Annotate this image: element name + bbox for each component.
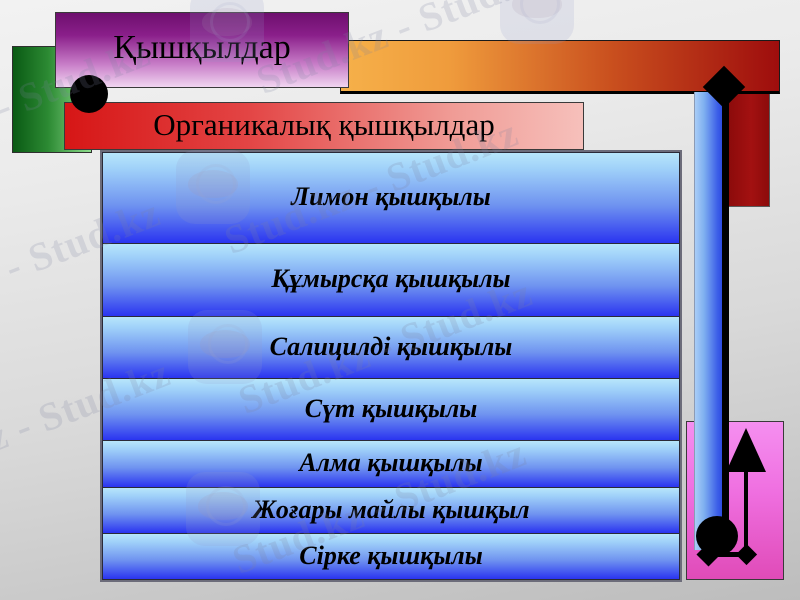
acid-list: Лимон қышқылы Құмырсқа қышқылы Салицилді… — [100, 150, 682, 582]
list-item[interactable]: Сірке қышқылы — [102, 534, 680, 580]
list-item[interactable]: Жоғары майлы қышқыл — [102, 488, 680, 534]
up-arrow-shaft — [744, 438, 748, 556]
watermark-logo — [500, 0, 574, 44]
list-item-label: Лимон қышқылы — [291, 184, 491, 212]
slide-title: Қышқылдар — [113, 31, 290, 69]
list-item-label: Сүт қышқылы — [305, 396, 478, 424]
slide-subtitle: Органикалық қышқылдар — [153, 109, 494, 143]
dark-red-vertical-bar — [728, 88, 770, 207]
list-item-label: Сірке қышқылы — [299, 543, 483, 571]
black-circle-icon-top — [70, 75, 108, 113]
list-item[interactable]: Сүт қышқылы — [102, 379, 680, 441]
list-item[interactable]: Лимон қышқылы — [102, 152, 680, 244]
black-circle-icon-bottom — [696, 516, 738, 556]
presentation-slide: Қышқылдар Органикалық қышқылдар Лимон қы… — [0, 0, 800, 600]
blue-vertical-bar — [694, 92, 725, 550]
slide-subtitle-box: Органикалық қышқылдар — [64, 102, 584, 150]
list-item-label: Жоғары майлы қышқыл — [252, 497, 529, 525]
list-item[interactable]: Салицилді қышқылы — [102, 317, 680, 379]
list-item[interactable]: Алма қышқылы — [102, 441, 680, 488]
list-item[interactable]: Құмырсқа қышқылы — [102, 244, 680, 317]
list-item-label: Салицилді қышқылы — [270, 334, 513, 362]
list-item-label: Алма қышқылы — [299, 450, 482, 478]
slide-title-box: Қышқылдар — [55, 12, 349, 88]
blue-bar-edge-line — [722, 92, 729, 552]
list-item-label: Құмырсқа қышқылы — [271, 266, 510, 294]
